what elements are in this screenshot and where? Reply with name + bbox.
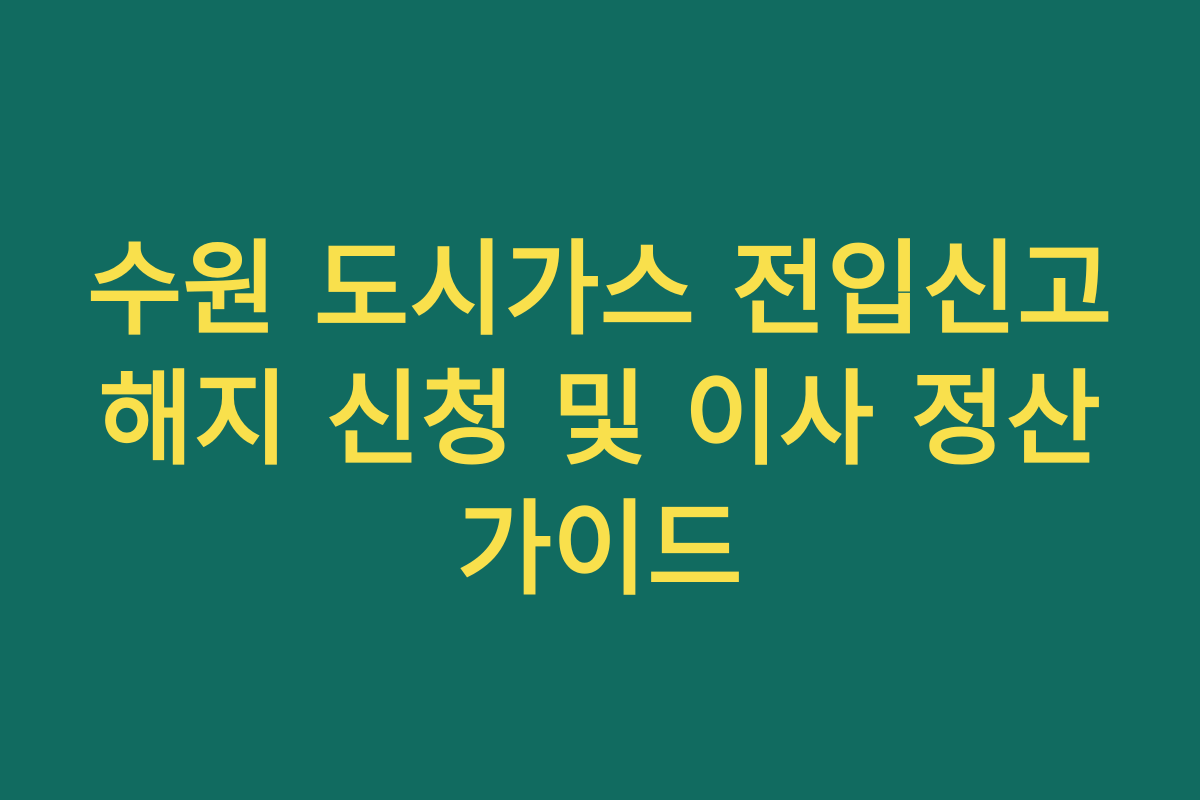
title-line-3: 가이드: [68, 485, 1132, 615]
article-title-card: 수원 도시가스 전입신고 해지 신청 및 이사 정산 가이드: [0, 0, 1200, 800]
title-line-2: 해지 신청 및 이사 정산: [68, 355, 1132, 485]
title-line-1: 수원 도시가스 전입신고: [68, 225, 1132, 355]
page-title: 수원 도시가스 전입신고 해지 신청 및 이사 정산 가이드: [68, 225, 1132, 615]
